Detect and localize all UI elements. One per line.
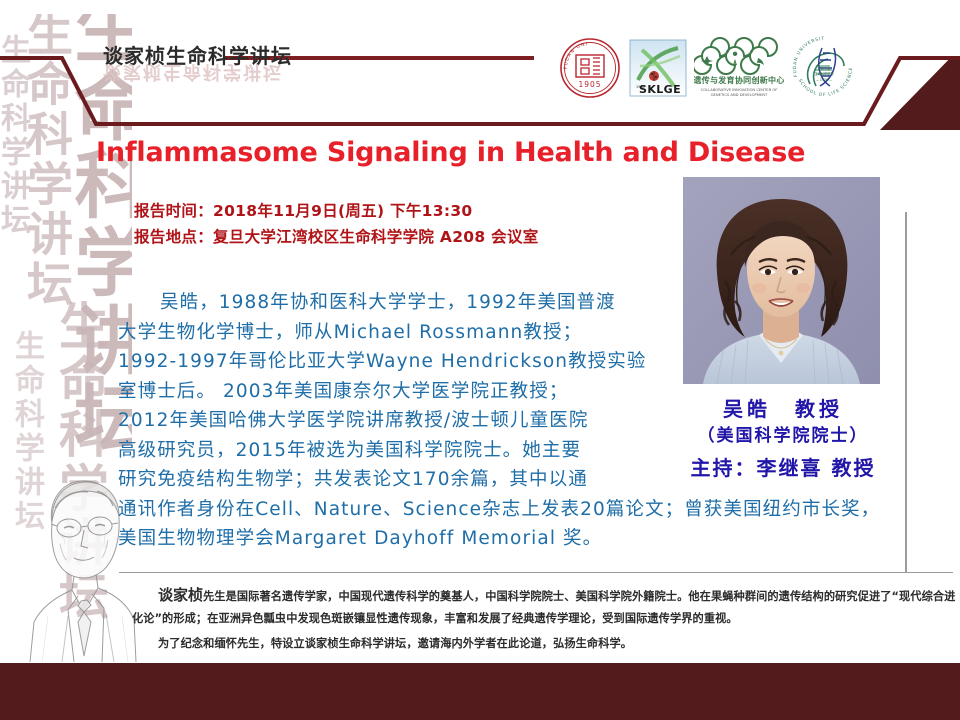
svg-text:复旦大学: 复旦大学: [818, 66, 831, 71]
speaker-biography: 吴皓，1988年协和医科大学学士，1992年美国普渡 大学生物化学博士，师从Mi…: [118, 288, 698, 554]
event-place: 报告地点：复旦大学江湾校区生命科学学院 A208 会议室: [134, 224, 539, 250]
svg-text:SKLGE: SKLGE: [639, 83, 681, 96]
svg-text:COLLABORATIVE INNOVATION CENTE: COLLABORATIVE INNOVATION CENTER OF: [701, 88, 778, 92]
forum-name-reflection: 谈家桢生命科学讲坛: [103, 60, 283, 86]
event-time: 报告时间：2018年11月9日(周五) 下午13:30: [134, 198, 539, 224]
bio-line: 2012年美国哈佛大学医学院讲席教授/波士顿儿童医院: [118, 406, 698, 436]
horizontal-divider: [119, 572, 953, 573]
vertical-divider: [905, 212, 907, 572]
bio-line: 室博士后。 2003年美国康奈尔大学医学院正教授；: [118, 377, 698, 407]
logo-row: FUDAN UNIVERSITY 1905: [558, 32, 858, 108]
speaker-caption: 吴皓 教授 （美国科学院院士） 主持：李继喜 教授: [663, 396, 903, 484]
header-banner: 谈家桢生命科学讲坛 谈家桢生命科学讲坛 FUDAN UNIVERSITY 190…: [0, 0, 960, 130]
speaker-photo: [683, 177, 880, 384]
bottom-bar: [0, 663, 960, 720]
footer-paragraph-1: 谈家桢先生是国际著名遗传学家，中国现代遗传科学的奠基人，中国科学院院士、美国科学…: [132, 584, 958, 630]
svg-text:生命科学学院: 生命科学学院: [814, 71, 834, 76]
svg-text:遗传与发育协同创新中心: 遗传与发育协同创新中心: [694, 75, 784, 85]
bio-line: 吴皓，1988年协和医科大学学士，1992年美国普渡: [118, 288, 698, 318]
svg-text:— 1926 —: — 1926 —: [816, 78, 833, 82]
bio-line: 1992-1997年哥伦比亚大学Wayne Hendrickson教授实验: [118, 347, 698, 377]
fudan-university-logo: FUDAN UNIVERSITY 1905: [558, 36, 622, 104]
footer-description: 谈家桢先生是国际著名遗传学家，中国现代遗传科学的奠基人，中国科学院院士、美国科学…: [132, 584, 958, 655]
svg-text:GENETICS AND DEVELOPMENT: GENETICS AND DEVELOPMENT: [711, 93, 768, 97]
event-info: 报告时间：2018年11月9日(周五) 下午13:30 报告地点：复旦大学江湾校…: [134, 198, 539, 250]
collaborative-innovation-center-logo: 遗传与发育协同创新中心 COLLABORATIVE INNOVATION CEN…: [694, 36, 784, 104]
speaker-name: 吴皓 教授: [663, 396, 903, 423]
bio-line: 大学生物化学博士，师从Michael Rossmann教授；: [118, 318, 698, 348]
footer-paragraph-2: 为了纪念和缅怀先生，特设立谈家桢生命科学讲坛，邀请海内外学者在此论道，弘扬生命科…: [132, 633, 958, 655]
sklge-logo: 1986 SKLGE: [628, 36, 688, 104]
speaker-honor: （美国科学院院士）: [663, 423, 903, 449]
svg-text:1905: 1905: [578, 80, 601, 89]
bio-line: 高级研究员，2015年被选为美国科学院院士。她主要: [118, 436, 698, 466]
school-of-life-sciences-logo: FUDAN UNIVERSITY SCHOOL OF LIFE SCIENCES: [790, 34, 858, 106]
bio-line: 通讯作者身份在Cell、Nature、Science杂志上发表20篇论文；曾获美…: [118, 495, 958, 525]
page-title: Inflammasome Signaling in Health and Dis…: [96, 137, 805, 168]
seminar-poster: 生命科学讲坛 生命科学讲坛 生命科学讲坛 生命科学讲坛 生命科学讲坛: [0, 0, 960, 720]
footer-paragraph-1-body: 先生是国际著名遗传学家，中国现代遗传科学的奠基人，中国科学院院士、美国科学院外籍…: [132, 590, 955, 625]
footer-lead-name: 谈家桢: [158, 586, 203, 604]
event-host: 主持：李继喜 教授: [663, 452, 903, 484]
bio-line: 研究免疫结构生物学；共发表论文170余篇，其中以通: [118, 465, 698, 495]
bio-line: 美国生物物理学会Margaret Dayhoff Memorial 奖。: [118, 524, 958, 554]
